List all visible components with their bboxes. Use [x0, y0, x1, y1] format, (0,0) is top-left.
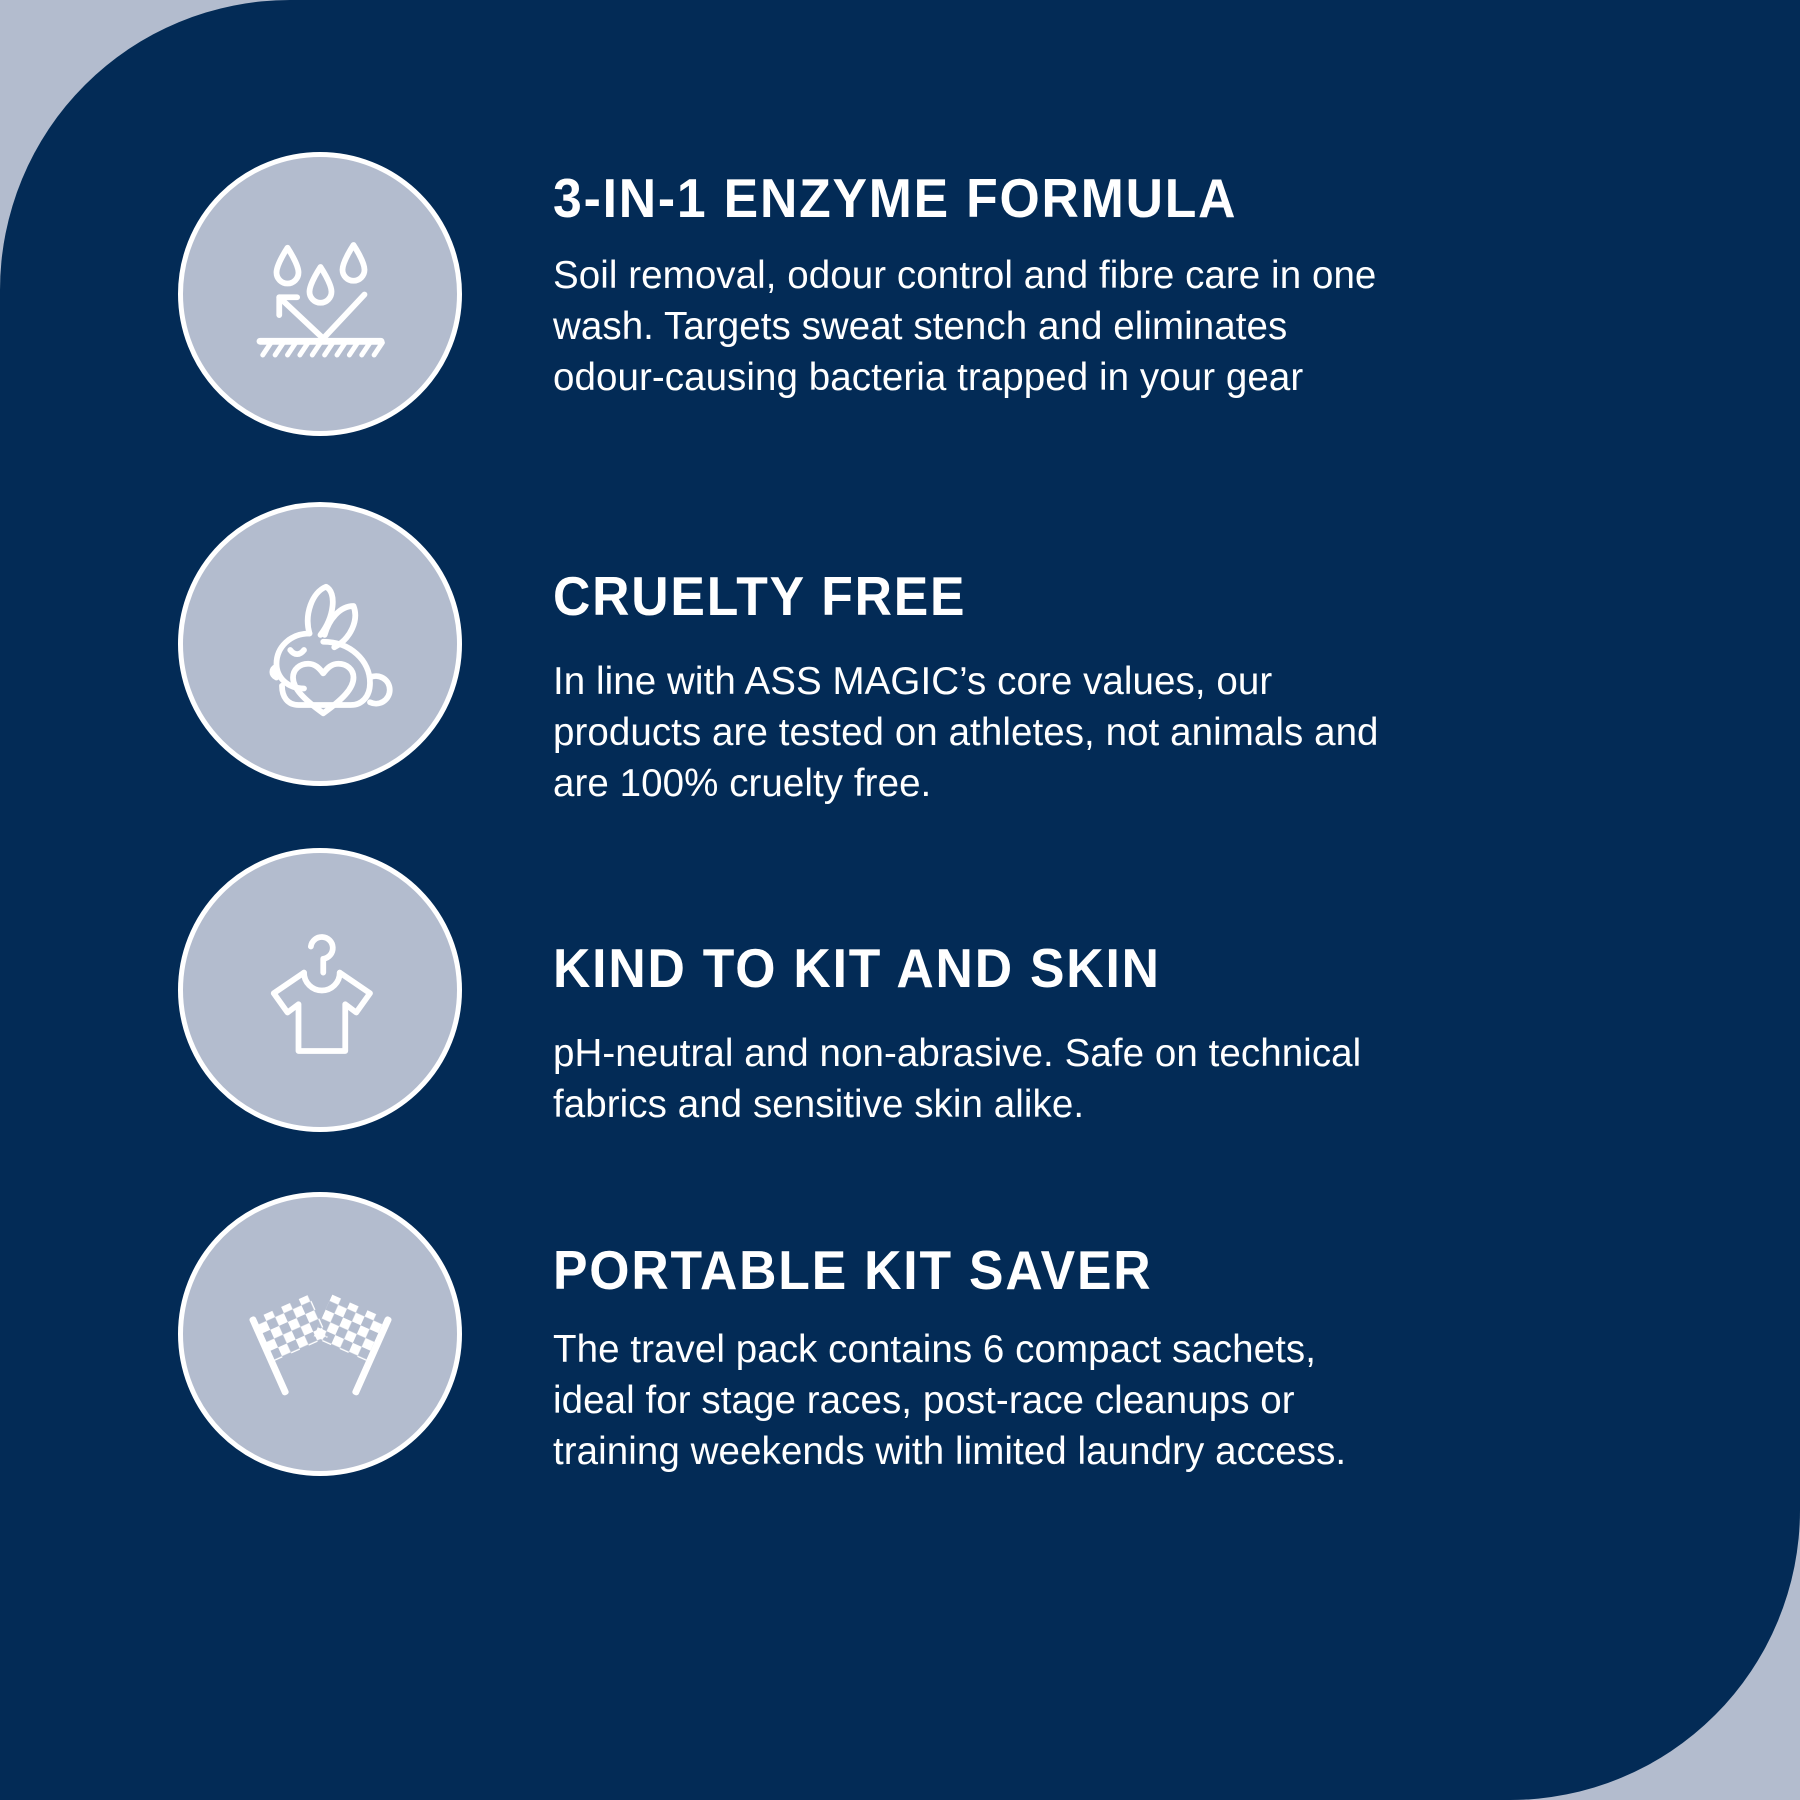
- feature-description: In line with ASS MAGIC’s core values, ou…: [553, 656, 1563, 810]
- checkered-flags-icon: [238, 1252, 403, 1417]
- rabbit-heart-icon: [238, 562, 403, 727]
- feature-text-block: CRUELTY FREE In line with ASS MAGIC’s co…: [462, 502, 1608, 809]
- feature-icon-badge: [178, 502, 462, 786]
- feature-title: 3-IN-1 ENZYME FORMULA: [553, 170, 1545, 228]
- feature-item: KIND TO KIT AND SKIN pH-neutral and non-…: [178, 848, 1608, 1132]
- water-repellent-fabric-icon: [238, 212, 403, 377]
- feature-item: CRUELTY FREE In line with ASS MAGIC’s co…: [178, 502, 1608, 809]
- feature-icon-badge: [178, 1192, 462, 1476]
- feature-title: KIND TO KIT AND SKIN: [553, 940, 1545, 998]
- feature-title: CRUELTY FREE: [553, 568, 1545, 626]
- feature-item: 3-IN-1 ENZYME FORMULA Soil removal, odou…: [178, 152, 1608, 436]
- tshirt-hanger-icon: [238, 908, 403, 1073]
- feature-list-graphic: 3-IN-1 ENZYME FORMULA Soil removal, odou…: [0, 0, 1800, 1800]
- feature-icon-badge: [178, 848, 462, 1132]
- feature-title: PORTABLE KIT SAVER: [553, 1242, 1545, 1300]
- feature-text-block: KIND TO KIT AND SKIN pH-neutral and non-…: [462, 848, 1608, 1130]
- feature-list: 3-IN-1 ENZYME FORMULA Soil removal, odou…: [0, 0, 1800, 1800]
- feature-text-block: PORTABLE KIT SAVER The travel pack conta…: [462, 1192, 1608, 1477]
- feature-icon-badge: [178, 152, 462, 436]
- feature-description: Soil removal, odour control and fibre ca…: [553, 250, 1563, 404]
- feature-description: The travel pack contains 6 compact sache…: [553, 1324, 1563, 1478]
- feature-description: pH-neutral and non-abrasive. Safe on tec…: [553, 1028, 1563, 1130]
- feature-item: PORTABLE KIT SAVER The travel pack conta…: [178, 1192, 1608, 1477]
- feature-text-block: 3-IN-1 ENZYME FORMULA Soil removal, odou…: [462, 152, 1608, 403]
